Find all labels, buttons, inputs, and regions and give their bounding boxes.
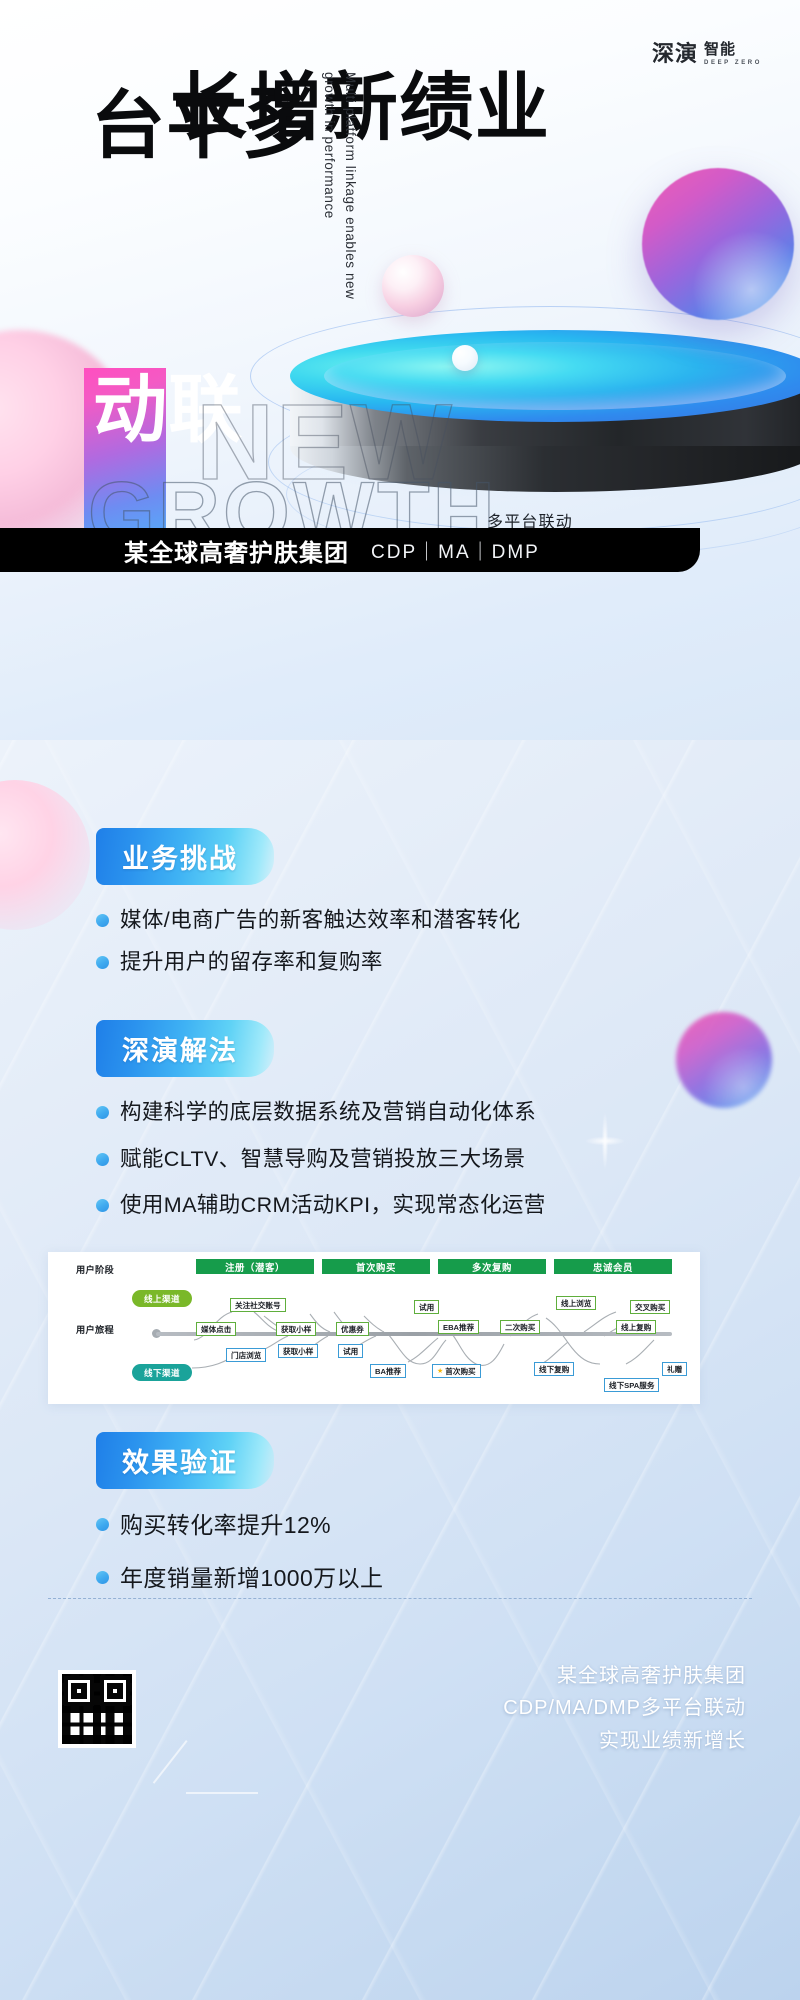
- decor-white-ball: [452, 345, 478, 371]
- section-result: 效果验证 购买转化率提升12% 年度销量新增1000万以上: [96, 1432, 383, 1614]
- bullet-dot-icon: [96, 914, 109, 927]
- logo-sub: 智能 DEEP ZERO: [704, 42, 762, 66]
- hero-section: 深演 智能 DEEP ZERO 多平台 联动 业绩新增长 Multi platf…: [0, 0, 800, 740]
- journey-node-top: 优惠券: [336, 1322, 369, 1336]
- bullet-text: 年度销量新增1000万以上: [120, 1562, 383, 1595]
- decor-sparkle-1: [588, 740, 638, 750]
- qr-code[interactable]: [58, 1670, 136, 1748]
- list-item: 购买转化率提升12%: [96, 1509, 383, 1542]
- logo-mark: 深演: [652, 44, 698, 66]
- hero-brand-bar: 某全球高奢护肤集团 CDP｜MA｜DMP: [0, 528, 700, 572]
- journey-node-top: 线上复购: [616, 1320, 656, 1334]
- decor-sparkle-2: [576, 1100, 634, 1182]
- bullet-dot-icon: [96, 1106, 109, 1119]
- decor-arrow-mark: [186, 1740, 258, 1794]
- journey-node-top: EBA推荐: [438, 1320, 479, 1334]
- star-icon: ★: [437, 1367, 443, 1375]
- list-item: 构建科学的底层数据系统及营销自动化体系: [96, 1097, 546, 1128]
- decor-gradient-sphere-body: [676, 1012, 772, 1108]
- bullet-dot-icon: [96, 956, 109, 969]
- journey-node-bottom: 门店浏览: [226, 1348, 266, 1362]
- poster-root: 深演 智能 DEEP ZERO 多平台 联动 业绩新增长 Multi platf…: [0, 0, 800, 2000]
- bullet-text: 购买转化率提升12%: [120, 1509, 331, 1542]
- list-item: 媒体/电商广告的新客触达效率和潜客转化: [96, 905, 521, 936]
- hero-brand-name: 某全球高奢护肤集团: [124, 533, 349, 568]
- journey-node-bottom: 试用: [338, 1344, 363, 1358]
- list-item: 提升用户的留存率和复购率: [96, 947, 521, 978]
- bullet-list-challenge: 媒体/电商广告的新客触达效率和潜客转化 提升用户的留存率和复购率: [96, 905, 521, 977]
- journey-node-top: 二次购买: [500, 1320, 540, 1334]
- bullet-text: 构建科学的底层数据系统及营销自动化体系: [120, 1097, 536, 1128]
- bullet-dot-icon: [96, 1199, 109, 1212]
- decor-pink-blob-body: [0, 780, 90, 930]
- bullet-text: 提升用户的留存率和复购率: [120, 947, 383, 978]
- qr-code-pattern: [62, 1674, 132, 1744]
- bullet-text: 使用MA辅助CRM活动KPI，实现常态化运营: [120, 1190, 546, 1221]
- decor-pink-sphere: [382, 255, 444, 317]
- section-badge-challenge: 业务挑战: [96, 828, 274, 885]
- section-badge-result: 效果验证: [96, 1432, 274, 1489]
- journey-node-bottom: ★首次购买: [432, 1364, 481, 1378]
- journey-connector-lines: [48, 1252, 700, 1404]
- bullet-text: 赋能CLTV、智慧导购及营销投放三大场景: [120, 1144, 525, 1175]
- journey-node-top: 获取小样: [276, 1322, 316, 1336]
- bullet-list-result: 购买转化率提升12% 年度销量新增1000万以上: [96, 1509, 383, 1594]
- journey-node-label: 首次购买: [445, 1366, 475, 1377]
- hero-english-tagline: Multi platform linkage enables new growt…: [318, 72, 360, 302]
- bullet-list-solution: 构建科学的底层数据系统及营销自动化体系 赋能CLTV、智慧导购及营销投放三大场景…: [96, 1097, 546, 1221]
- bullet-text: 媒体/电商广告的新客触达效率和潜客转化: [120, 905, 521, 936]
- footer-divider: [48, 1598, 752, 1599]
- journey-node-top: 线上浏览: [556, 1296, 596, 1310]
- journey-node-top: 媒体点击: [196, 1322, 236, 1336]
- bullet-dot-icon: [96, 1153, 109, 1166]
- list-item: 使用MA辅助CRM活动KPI，实现常态化运营: [96, 1190, 546, 1221]
- brand-logo: 深演 智能 DEEP ZERO: [652, 42, 762, 66]
- journey-node-top: 交叉购买: [630, 1300, 670, 1314]
- journey-node-bottom: 线下复购: [534, 1362, 574, 1376]
- journey-node-bottom: 线下SPA服务: [604, 1378, 659, 1392]
- footer-line: 实现业绩新增长: [503, 1725, 746, 1757]
- footer-summary: 某全球高奢护肤集团 CDP/MA/DMP多平台联动 实现业绩新增长: [503, 1660, 746, 1757]
- hero-product-tags: CDP｜MA｜DMP: [371, 537, 540, 564]
- journey-node-bottom: 礼赠: [662, 1362, 687, 1376]
- bullet-dot-icon: [96, 1571, 109, 1584]
- footer-line: 某全球高奢护肤集团: [503, 1660, 746, 1692]
- decor-gradient-sphere: [642, 168, 794, 320]
- content-section: 业务挑战 媒体/电商广告的新客触达效率和潜客转化 提升用户的留存率和复购率 深演…: [0, 740, 800, 2000]
- section-badge-solution: 深演解法: [96, 1020, 274, 1077]
- list-item: 赋能CLTV、智慧导购及营销投放三大场景: [96, 1144, 546, 1175]
- journey-node-bottom: 获取小样: [278, 1344, 318, 1358]
- journey-node-top: 试用: [414, 1300, 439, 1314]
- logo-sub-cn: 智能: [704, 42, 762, 57]
- journey-node-top: 关注社交账号: [230, 1298, 286, 1312]
- bullet-dot-icon: [96, 1518, 109, 1531]
- list-item: 年度销量新增1000万以上: [96, 1562, 383, 1595]
- section-business-challenge: 业务挑战 媒体/电商广告的新客触达效率和潜客转化 提升用户的留存率和复购率: [96, 828, 521, 988]
- logo-sub-en: DEEP ZERO: [704, 60, 762, 66]
- section-solution: 深演解法 构建科学的底层数据系统及营销自动化体系 赋能CLTV、智慧导购及营销投…: [96, 1020, 546, 1237]
- journey-node-bottom: BA推荐: [370, 1364, 406, 1378]
- footer-line: CDP/MA/DMP多平台联动: [503, 1692, 746, 1724]
- user-journey-diagram: 用户阶段 用户旅程 注册（潜客） 首次购买 多次复购 忠诚会员 线上渠道 线下渠…: [48, 1252, 700, 1404]
